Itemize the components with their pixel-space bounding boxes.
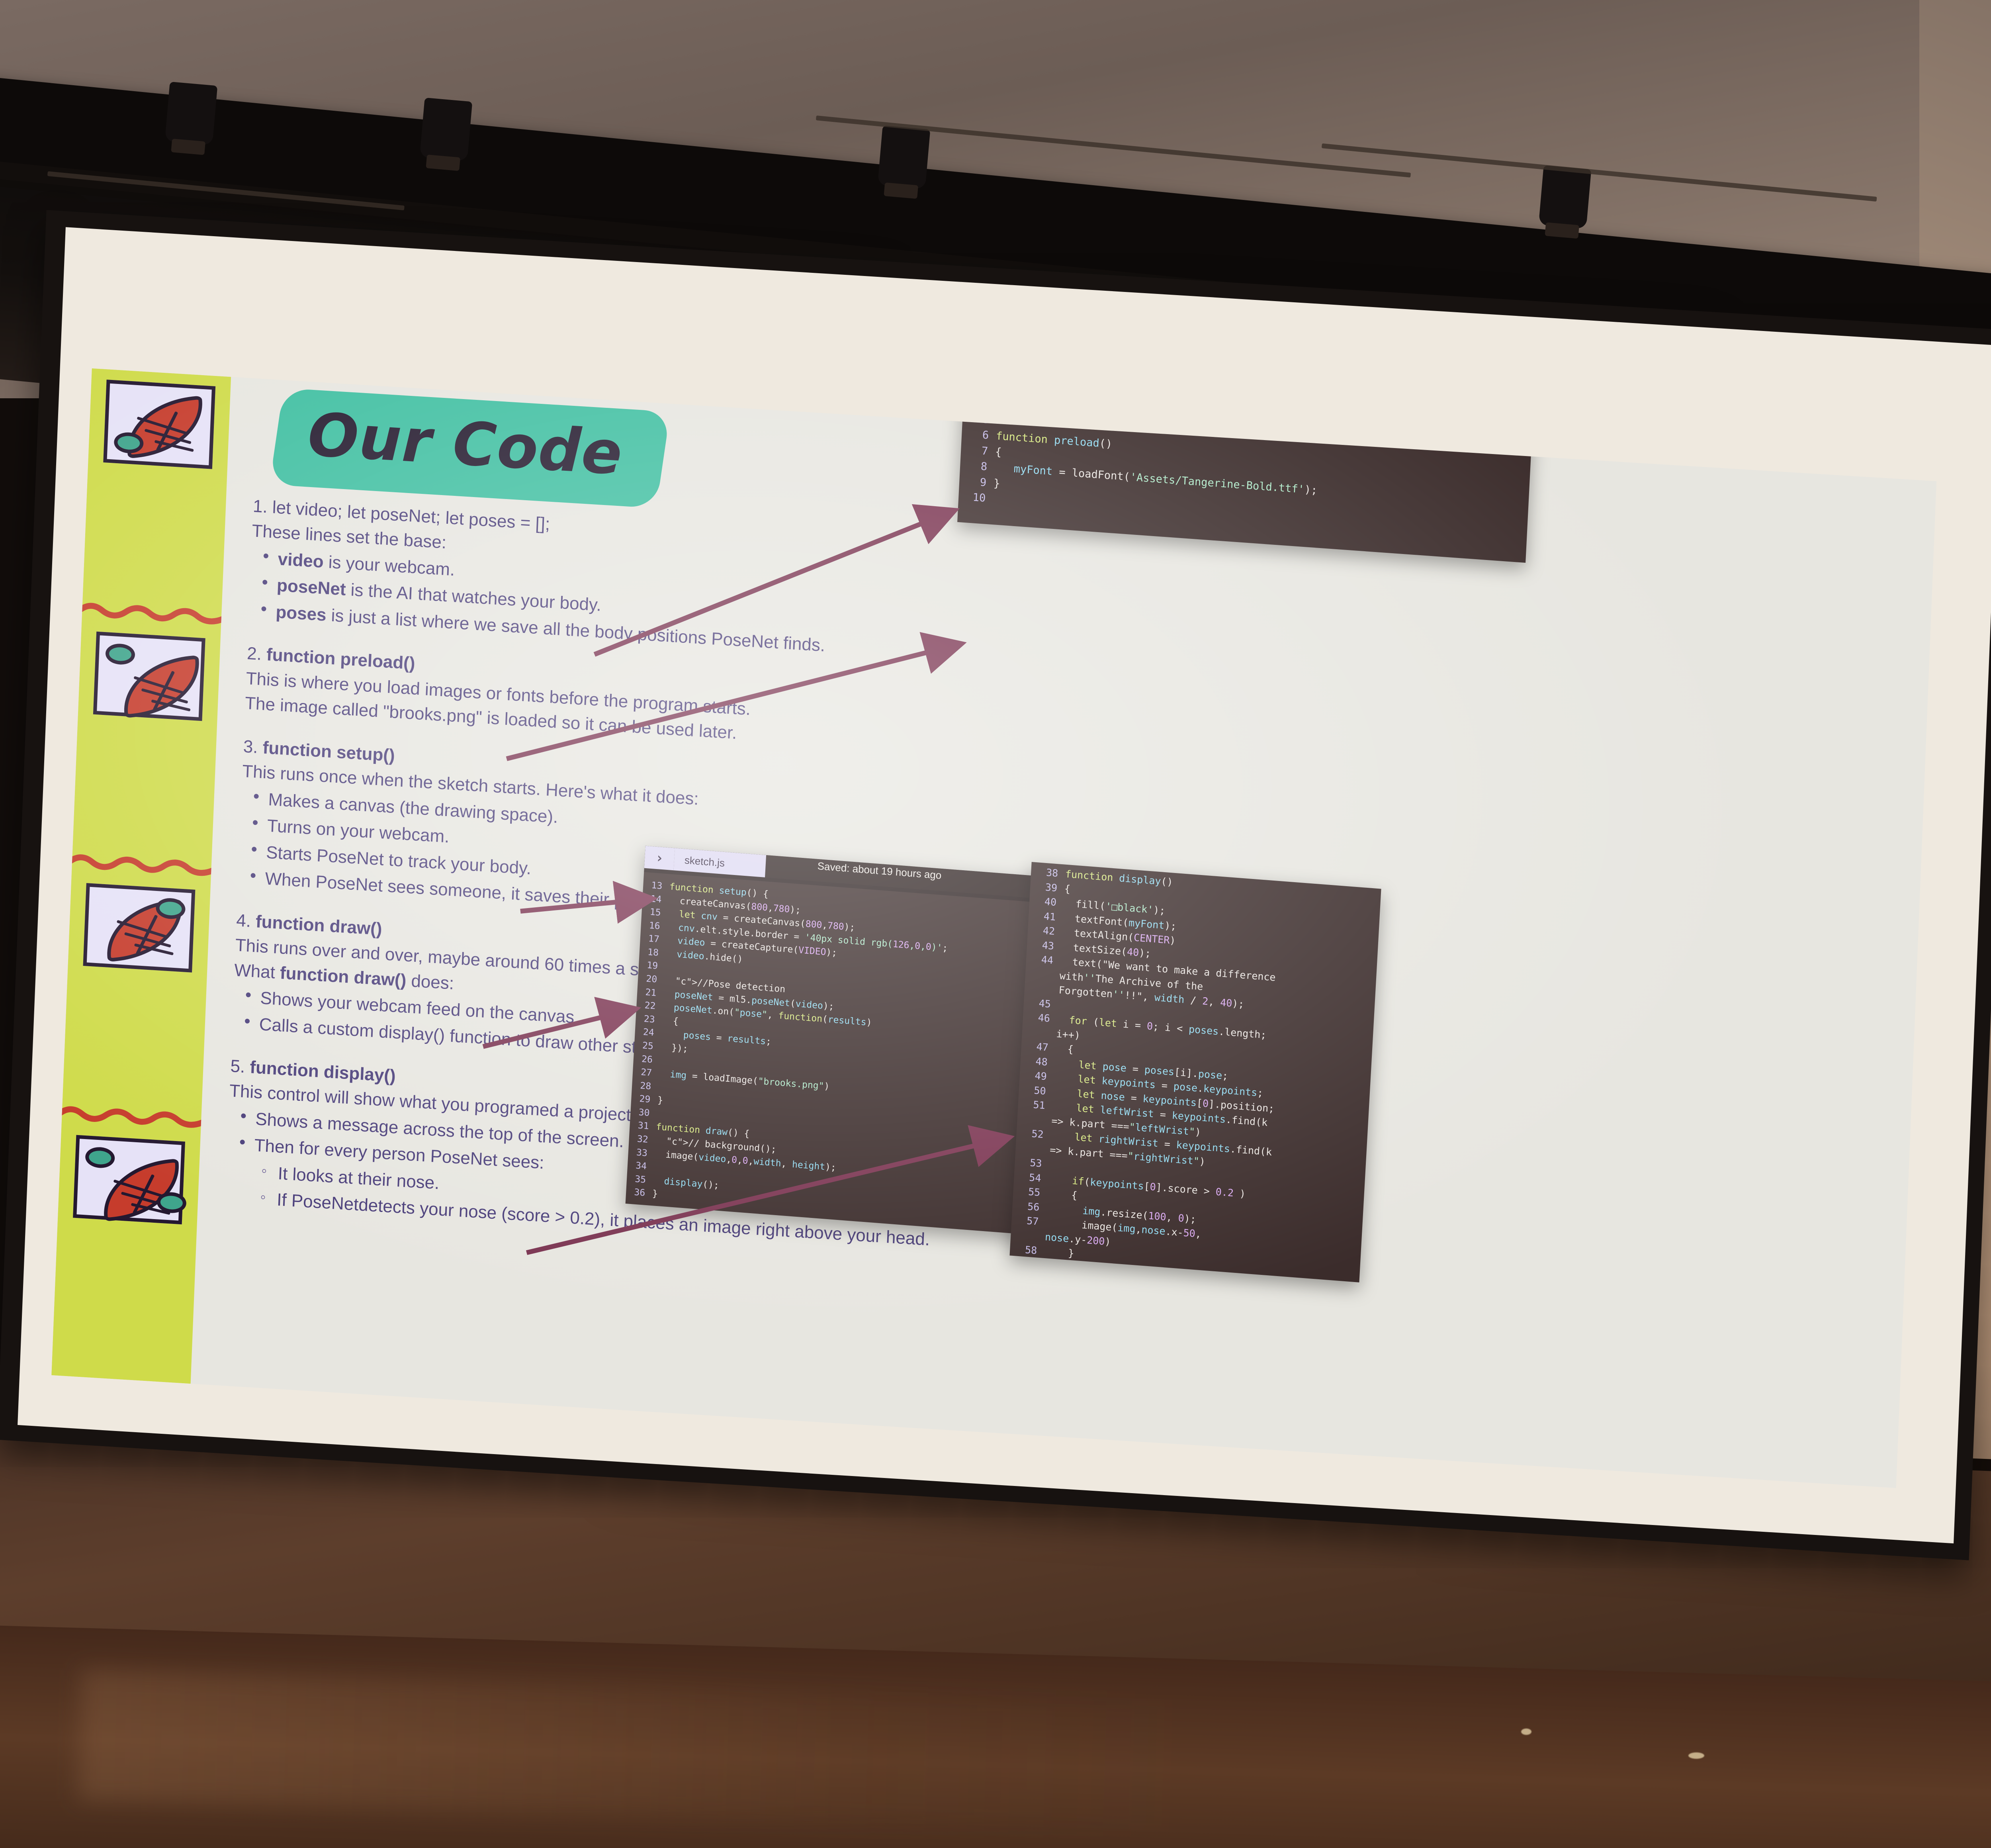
leaf-icon: [119, 655, 204, 718]
seed-dot-icon: [105, 643, 135, 665]
presentation-slide: Our Code 1. let video; let poseNet; let …: [51, 368, 1936, 1488]
floor-debris-1: [1521, 1729, 1531, 1735]
slide-title-pill: Our Code: [270, 388, 671, 508]
stage-light-4: [1539, 165, 1592, 229]
code-editor-display[interactable]: 3839404142434400454604748495051052053545…: [1009, 862, 1381, 1282]
editor-source-text[interactable]: function setup() { createCanvas(800,780)…: [652, 881, 1055, 1231]
stage-light-2: [420, 98, 473, 161]
leaf-panel: [73, 1135, 185, 1224]
leaf-panel: [83, 883, 196, 973]
page-title: Our Code: [307, 400, 624, 488]
leaf-panel: [93, 631, 205, 721]
stage-light-3: [878, 125, 931, 189]
deco-cell-4: [51, 1124, 201, 1384]
auditorium-scene: Our Code 1. let video; let poseNet; let …: [0, 0, 1991, 1848]
deco-cell-1: [82, 368, 231, 628]
deco-cell-2: [72, 620, 221, 880]
chevron-right-icon[interactable]: ›: [644, 846, 675, 871]
editor-code-area[interactable]: 3839404142434400454604748495051052053545…: [1009, 862, 1381, 1282]
projection-screen: Our Code 1. let video; let poseNet; let …: [0, 175, 1991, 1575]
code-editor-setup-draw[interactable]: › sketch.js Saved: about 19 hours ago 13…: [626, 846, 1057, 1235]
seed-dot-icon: [85, 1146, 115, 1169]
floor-debris-2: [1688, 1752, 1704, 1759]
leaf-panel: [103, 380, 215, 469]
stage-light-1: [165, 82, 218, 145]
editor-source-text[interactable]: function display(){ fill('□black'); text…: [1040, 867, 1381, 1282]
deco-cell-3: [62, 872, 211, 1132]
editor-code-area[interactable]: 1314151617181920212223242526272829303132…: [626, 872, 1055, 1231]
